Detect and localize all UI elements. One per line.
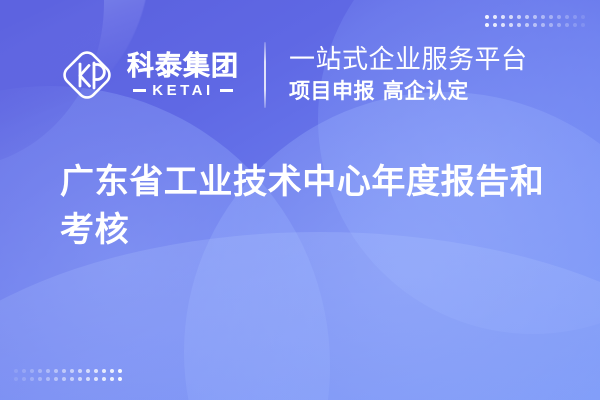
dot xyxy=(62,377,66,381)
dot xyxy=(94,369,98,373)
banner-header: 科泰集团 KETAI 一站式企业服务平台 项目申报 高企认定 xyxy=(58,42,600,108)
dot xyxy=(501,15,505,19)
banner-tagline: 一站式企业服务平台 项目申报 高企认定 xyxy=(289,46,528,103)
dot xyxy=(565,23,569,27)
logo-rule-left xyxy=(133,89,146,92)
dot xyxy=(509,15,513,19)
dot xyxy=(485,23,489,27)
dot-grid-top-right xyxy=(485,15,585,27)
dot-row xyxy=(485,15,585,19)
dot xyxy=(70,377,74,381)
ketai-logo[interactable]: 科泰集团 KETAI xyxy=(58,46,239,104)
dot xyxy=(46,377,50,381)
dot xyxy=(86,369,90,373)
dot xyxy=(525,15,529,19)
dot xyxy=(22,377,26,381)
dot xyxy=(70,369,74,373)
dot xyxy=(525,23,529,27)
dot xyxy=(573,15,577,19)
dot xyxy=(54,369,58,373)
ketai-logo-wordmark: 科泰集团 KETAI xyxy=(127,53,239,98)
dot xyxy=(541,23,545,27)
header-divider xyxy=(264,42,266,108)
tagline-sub: 项目申报 高企认定 xyxy=(289,80,528,103)
dot xyxy=(30,369,34,373)
dot xyxy=(509,23,513,27)
dot xyxy=(549,15,553,19)
banner-headline: 广东省工业技术中心年度报告和考核 xyxy=(60,158,565,254)
dot xyxy=(549,23,553,27)
dot xyxy=(102,377,106,381)
dot-row xyxy=(485,23,585,27)
dot-row xyxy=(14,369,122,373)
dot xyxy=(22,369,26,373)
dot xyxy=(14,369,18,373)
tagline-main: 一站式企业服务平台 xyxy=(289,46,528,74)
dot xyxy=(102,369,106,373)
dot xyxy=(501,23,505,27)
logo-rule-right xyxy=(220,89,233,92)
dot xyxy=(54,377,58,381)
dot xyxy=(565,15,569,19)
dot xyxy=(581,23,585,27)
dot xyxy=(557,15,561,19)
dot xyxy=(78,377,82,381)
dot xyxy=(46,369,50,373)
dot xyxy=(14,377,18,381)
dot xyxy=(94,377,98,381)
dot xyxy=(118,377,122,381)
dot xyxy=(533,23,537,27)
dot xyxy=(118,369,122,373)
dot xyxy=(557,23,561,27)
promo-banner: 科泰集团 KETAI 一站式企业服务平台 项目申报 高企认定 广东省工业技术中心… xyxy=(0,0,600,400)
dot xyxy=(78,369,82,373)
ketai-logo-en: KETAI xyxy=(152,83,213,98)
dot xyxy=(493,15,497,19)
dot-row xyxy=(14,377,122,381)
dot xyxy=(485,15,489,19)
dot xyxy=(581,15,585,19)
dot xyxy=(38,377,42,381)
ketai-logo-cn: 科泰集团 xyxy=(127,53,239,80)
dot xyxy=(517,15,521,19)
dot xyxy=(110,377,114,381)
dot xyxy=(573,23,577,27)
dot xyxy=(86,377,90,381)
dot xyxy=(517,23,521,27)
dot xyxy=(62,369,66,373)
dot xyxy=(541,15,545,19)
ketai-logo-en-row: KETAI xyxy=(127,83,239,98)
dot xyxy=(533,15,537,19)
dot xyxy=(110,369,114,373)
dot xyxy=(493,23,497,27)
ketai-diamond-kp-monogram-icon xyxy=(58,46,116,104)
dot xyxy=(30,377,34,381)
dot-grid-bottom-left xyxy=(14,369,122,381)
dot xyxy=(38,369,42,373)
